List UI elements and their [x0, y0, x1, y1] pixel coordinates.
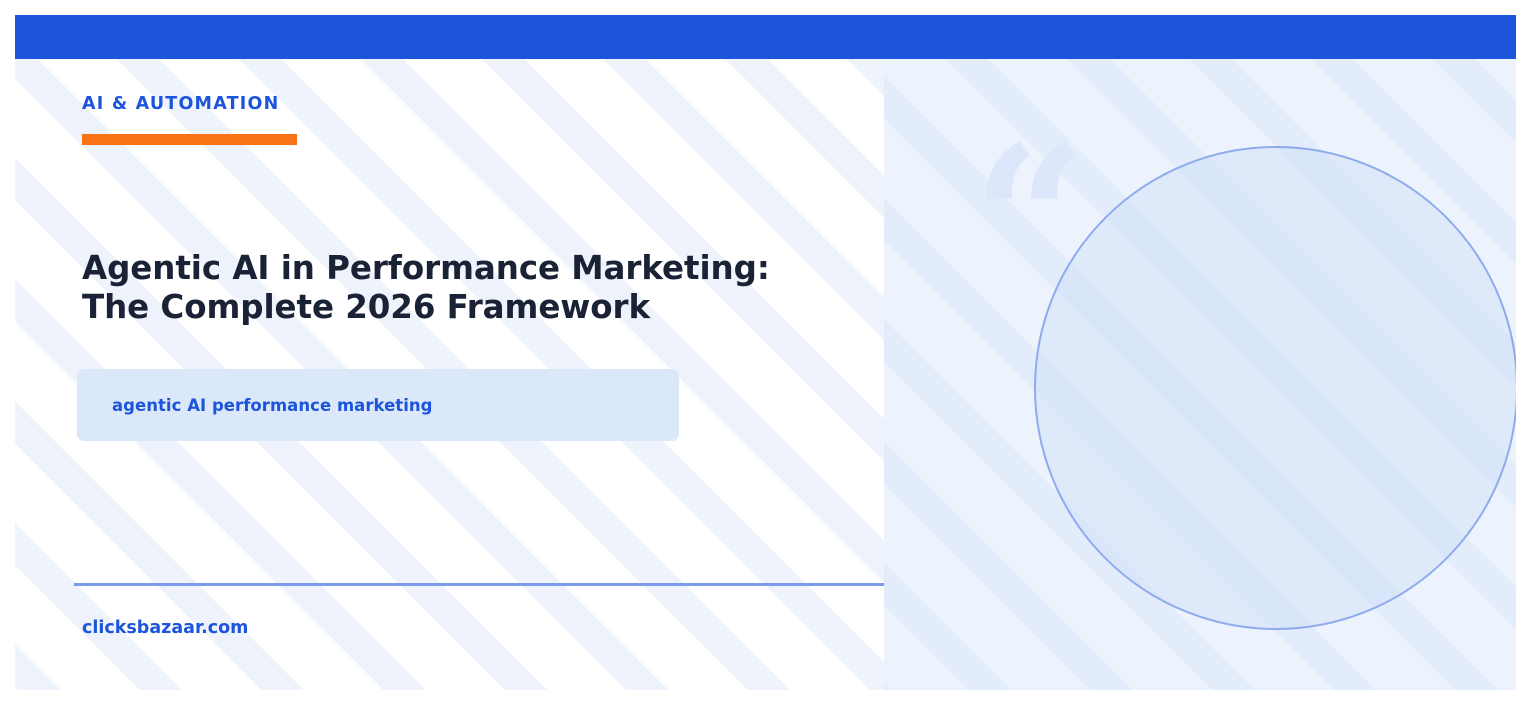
left-content-panel: AI & AUTOMATION Agentic AI in Performanc…: [15, 59, 884, 690]
keyword-chip[interactable]: agentic AI performance marketing: [77, 369, 679, 441]
quote-mark-icon: “: [972, 121, 1087, 321]
right-decorative-panel: “: [884, 59, 1516, 690]
decorative-circle: [1034, 146, 1516, 630]
social-card-canvas: AI & AUTOMATION Agentic AI in Performanc…: [0, 0, 1530, 704]
keyword-chip-label: agentic AI performance marketing: [112, 396, 433, 415]
footer-divider: [74, 583, 884, 586]
orange-accent-rule: [82, 134, 297, 145]
site-domain[interactable]: clicksbazaar.com: [82, 620, 248, 638]
page-title: Agentic AI in Performance Marketing: The…: [82, 249, 822, 327]
category-kicker: AI & AUTOMATION: [82, 96, 279, 114]
content-card: AI & AUTOMATION Agentic AI in Performanc…: [15, 59, 1516, 690]
top-accent-bar: [15, 15, 1516, 59]
